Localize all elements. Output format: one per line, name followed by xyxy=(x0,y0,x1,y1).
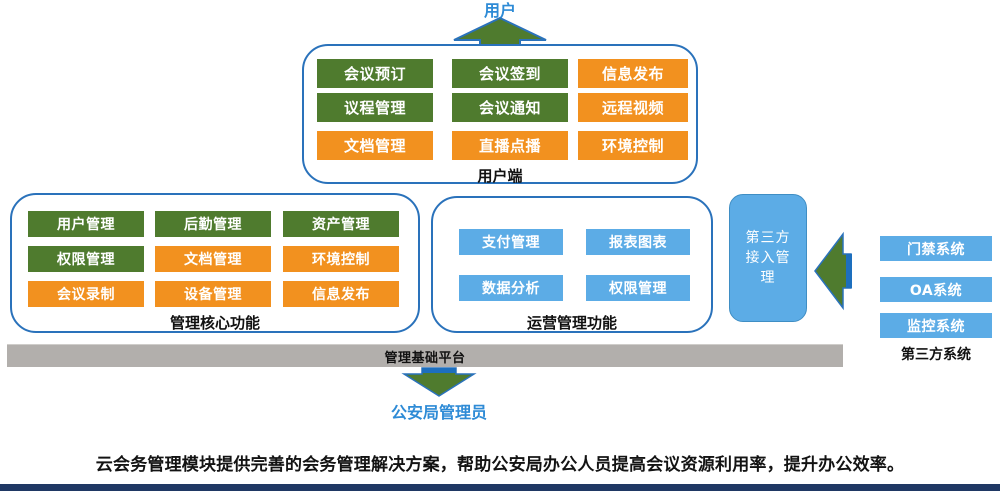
platform-base-bar: 管理基础平台 xyxy=(7,344,843,367)
third-party-system-2[interactable]: 监控系统 xyxy=(880,313,992,338)
tp-access-line-2: 理 xyxy=(746,268,791,288)
summary-caption: 云会务管理模块提供完善的会务管理解决方案，帮助公安局办公人员提高会议资源利用率，… xyxy=(0,450,1000,475)
core-chip-4[interactable]: 文档管理 xyxy=(155,246,271,272)
core-chip-7[interactable]: 设备管理 xyxy=(155,281,271,307)
tp-access-line-0: 第三方 xyxy=(746,228,791,248)
platform-base-label: 管理基础平台 xyxy=(384,347,465,366)
ops-chip-0[interactable]: 支付管理 xyxy=(459,229,563,255)
ops-panel-caption: 运营管理功能 xyxy=(472,312,672,333)
core-chip-1[interactable]: 后勤管理 xyxy=(155,211,271,237)
client-chip-4[interactable]: 会议通知 xyxy=(452,93,568,122)
ops-chip-1[interactable]: 报表图表 xyxy=(586,229,690,255)
client-chip-7[interactable]: 直播点播 xyxy=(452,131,568,160)
core-chip-3[interactable]: 权限管理 xyxy=(28,246,144,272)
down-arrow-icon xyxy=(400,366,478,398)
client-chip-6[interactable]: 文档管理 xyxy=(317,131,433,160)
bottom-actor-label: 公安局管理员 xyxy=(359,399,519,423)
client-chip-5[interactable]: 远程视频 xyxy=(578,93,688,122)
tp-access-line-1: 接入管 xyxy=(746,248,791,268)
third-party-system-0[interactable]: 门禁系统 xyxy=(880,236,992,261)
client-chip-3[interactable]: 议程管理 xyxy=(317,93,433,122)
architecture-diagram: 用户 会议预订 会议签到 信息发布 议程管理 会议通知 远程视频 文档管理 直播… xyxy=(0,0,1000,491)
third-party-access-box[interactable]: 第三方 接入管 理 xyxy=(729,194,807,322)
client-chip-8[interactable]: 环境控制 xyxy=(578,131,688,160)
core-panel-caption: 管理核心功能 xyxy=(115,312,315,333)
client-chip-1[interactable]: 会议签到 xyxy=(452,59,568,88)
core-chip-6[interactable]: 会议录制 xyxy=(28,281,144,307)
ops-chip-2[interactable]: 数据分析 xyxy=(459,275,563,301)
core-chip-5[interactable]: 环境控制 xyxy=(283,246,399,272)
core-chip-2[interactable]: 资产管理 xyxy=(283,211,399,237)
third-party-systems-caption: 第三方系统 xyxy=(880,344,992,364)
ops-chip-3[interactable]: 权限管理 xyxy=(586,275,690,301)
third-party-system-1[interactable]: OA系统 xyxy=(880,277,992,302)
core-chip-8[interactable]: 信息发布 xyxy=(283,281,399,307)
client-chip-2[interactable]: 信息发布 xyxy=(578,59,688,88)
client-chip-0[interactable]: 会议预订 xyxy=(317,59,433,88)
left-arrow-icon xyxy=(813,230,853,312)
core-chip-0[interactable]: 用户管理 xyxy=(28,211,144,237)
client-panel-caption: 用户端 xyxy=(402,165,598,186)
bottom-accent-strip xyxy=(0,484,1000,491)
